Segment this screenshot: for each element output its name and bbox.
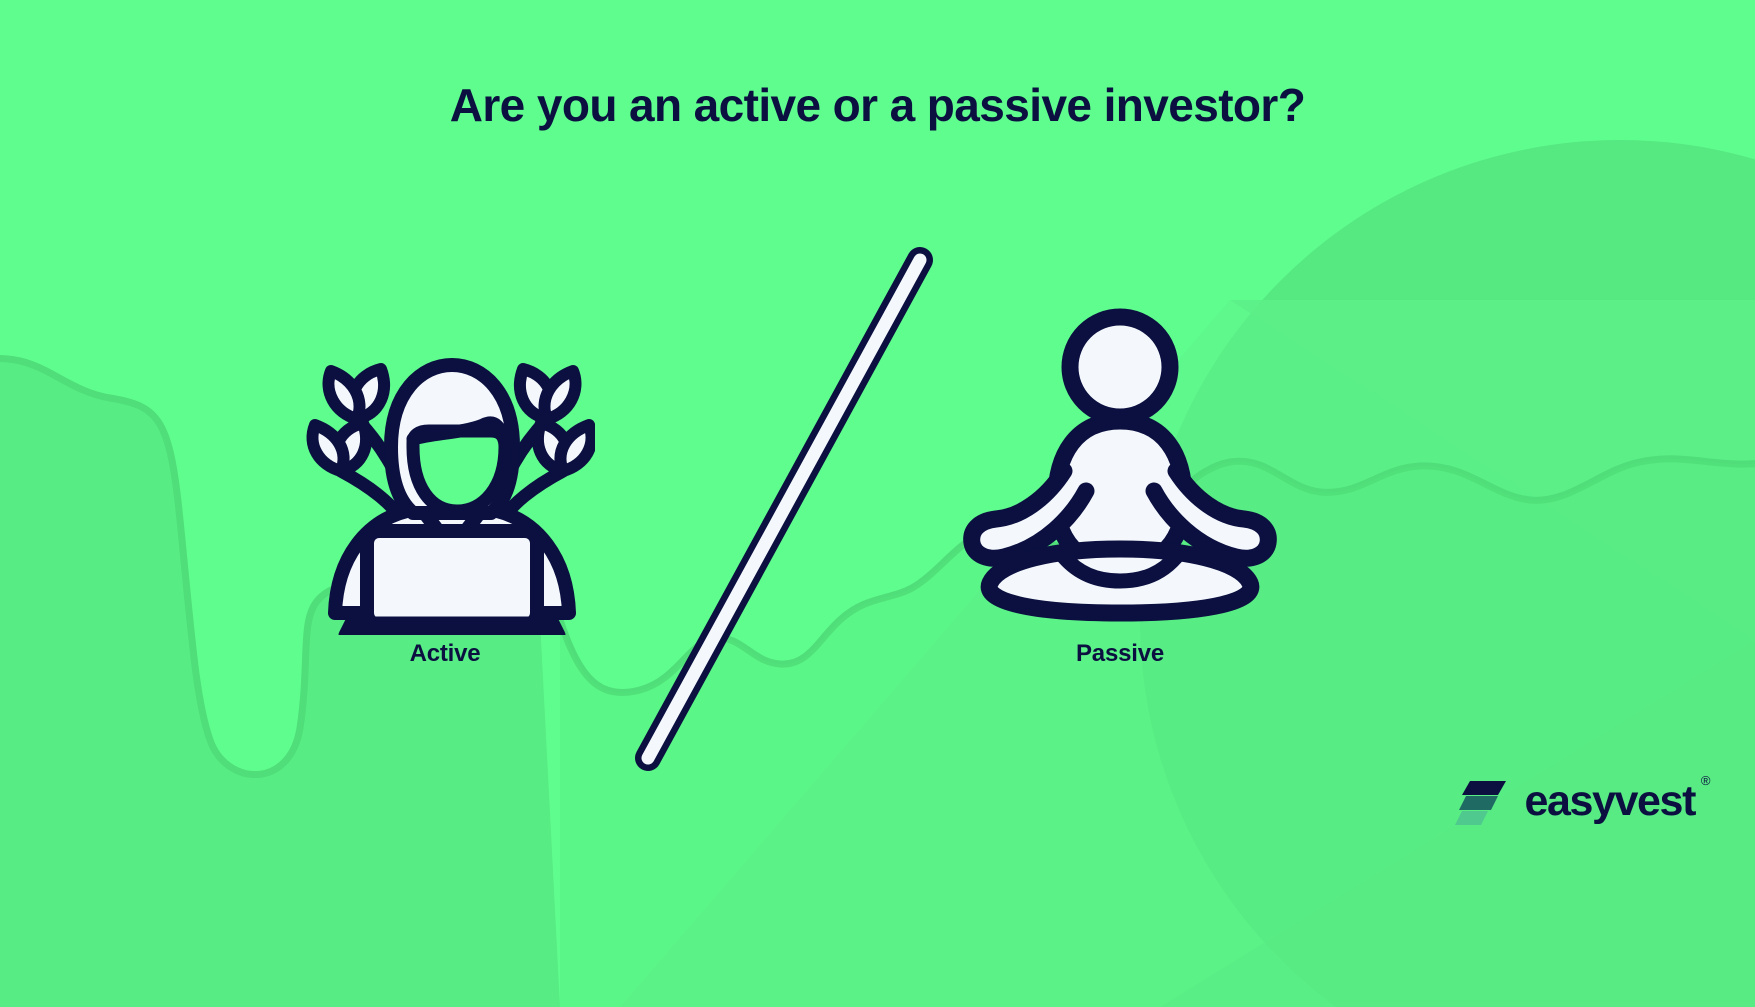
page-title: Are you an active or a passive investor? <box>0 78 1755 132</box>
logo-wordmark-text: easyvest <box>1524 777 1695 825</box>
passive-label: Passive <box>960 640 1280 668</box>
easyvest-chevron-mark <box>1454 775 1510 827</box>
passive-figure <box>960 305 1280 630</box>
person-meditating-lotus-icon <box>960 305 1280 625</box>
decor-diagonal-wedge <box>1230 300 1755 640</box>
active-label: Active <box>295 640 595 668</box>
diagonal-slash-divider <box>600 230 980 790</box>
registered-trademark-icon: ® <box>1701 773 1709 788</box>
active-figure <box>295 335 595 640</box>
easyvest-logo[interactable]: easyvest ® <box>1454 775 1695 827</box>
person-at-laptop-with-plants-icon <box>295 335 595 635</box>
logo-wordmark: easyvest ® <box>1524 777 1695 826</box>
infographic-canvas: Are you an active or a passive investor? <box>0 0 1755 1007</box>
